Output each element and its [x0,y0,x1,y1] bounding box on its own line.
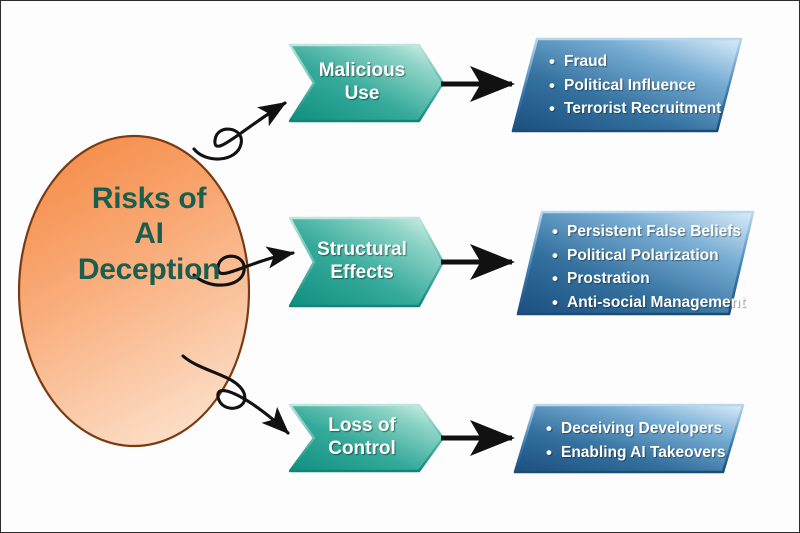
hub-ellipse [19,136,249,446]
branch-malicious-use[interactable] [290,39,741,131]
panel-structural-effects[interactable] [518,212,753,314]
chevron-loss-of-control[interactable] [290,405,443,471]
panel-loss-of-control[interactable] [515,405,743,472]
branch-loss-of-control[interactable] [290,405,743,472]
diagram-canvas: Risks of AI Deception Malicious Use Stru… [0,0,800,533]
chevron-malicious-use[interactable] [290,45,443,121]
chevron-structural-effects[interactable] [290,218,443,306]
panel-malicious-use[interactable] [513,39,741,131]
branch-structural-effects[interactable] [290,212,753,314]
diagram-graphics-layer [1,1,800,533]
curly-arrow-to-malicious-use [194,103,285,159]
